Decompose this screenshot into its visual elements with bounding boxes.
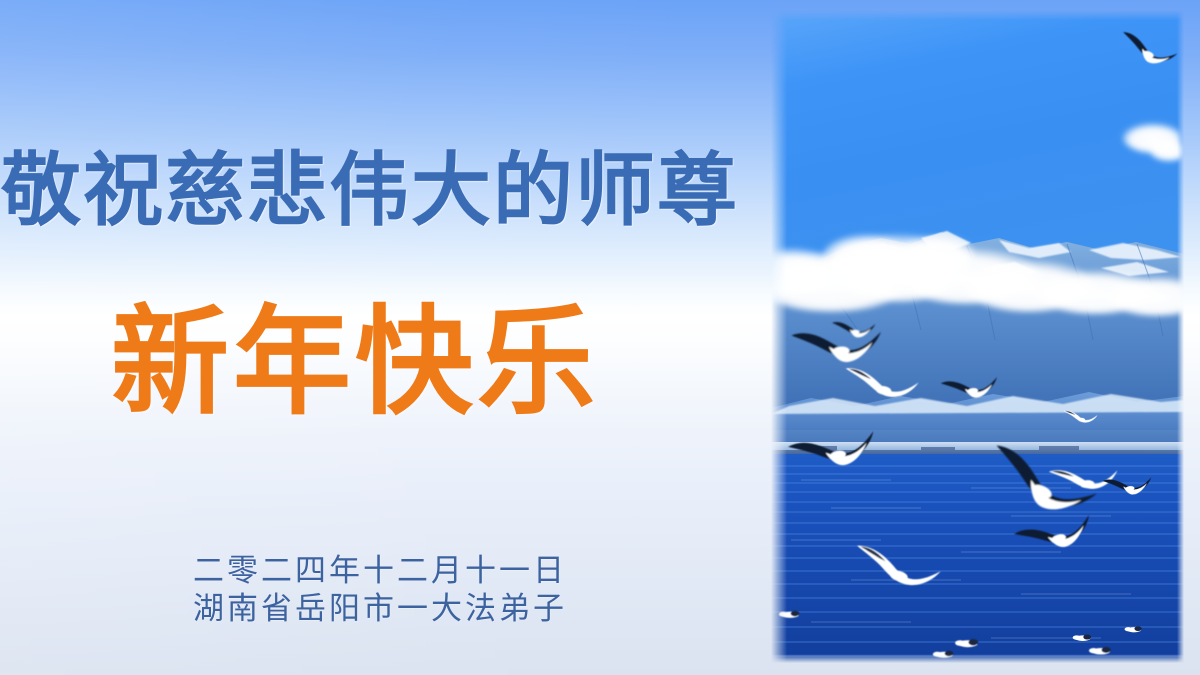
- signature-date: 二零二四年十二月十一日: [0, 552, 760, 590]
- new-year-wish-headline: 新年快乐: [0, 305, 770, 423]
- greeting-card: 敬祝慈悲伟大的师尊 新年快乐 二零二四年十二月十一日 湖南省岳阳市一大法弟子: [0, 0, 1200, 675]
- greeting-headline: 敬祝慈悲伟大的师尊: [0, 152, 770, 232]
- signature-sender: 湖南省岳阳市一大法弟子: [0, 590, 760, 628]
- text-column: 敬祝慈悲伟大的师尊 新年快乐 二零二四年十二月十一日 湖南省岳阳市一大法弟子: [0, 0, 770, 675]
- photo-frame: [765, 4, 1190, 669]
- lake-seagulls-photo: [771, 10, 1184, 663]
- photo-artwork: [771, 10, 1184, 663]
- signature-block: 二零二四年十二月十一日 湖南省岳阳市一大法弟子: [0, 552, 770, 628]
